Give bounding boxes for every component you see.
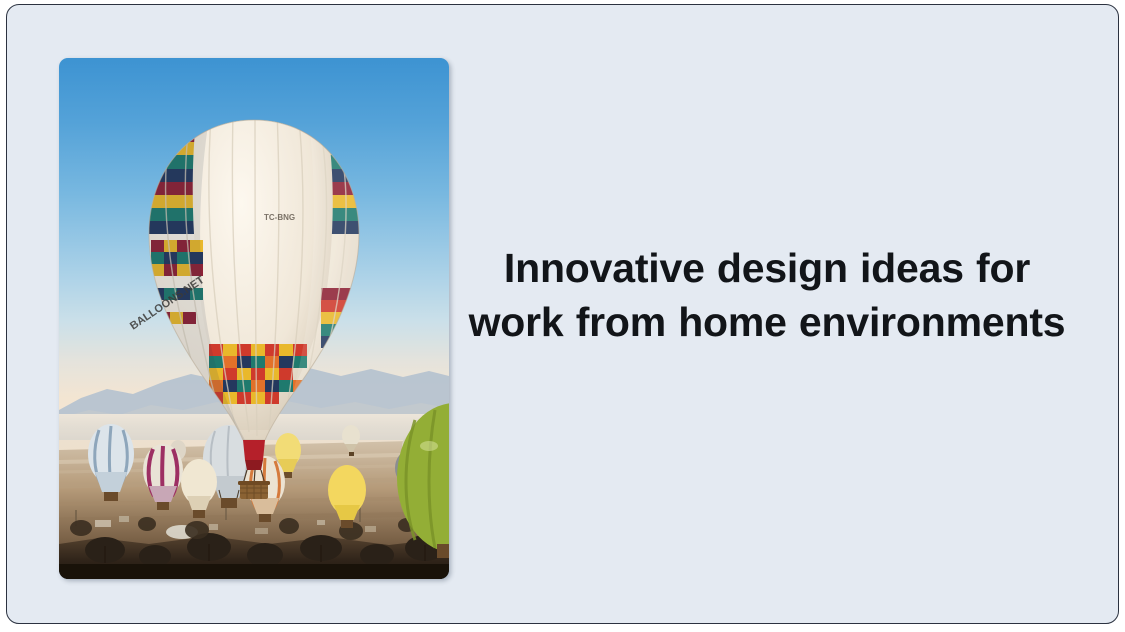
headline-block: Innovative design ideas for work from ho…	[462, 241, 1072, 349]
balloon-skirt	[243, 440, 265, 460]
bottom-shadow	[59, 564, 449, 579]
slide-canvas: TC-BNG BALLOONS.NET	[6, 4, 1119, 624]
balloon-scene-illustration: TC-BNG BALLOONS.NET	[59, 58, 449, 579]
slide-content: TC-BNG BALLOONS.NET	[7, 5, 1118, 623]
registration-mark: TC-BNG	[264, 213, 295, 222]
hot-air-balloon-image: TC-BNG BALLOONS.NET	[59, 58, 449, 579]
page-title: Innovative design ideas for work from ho…	[462, 241, 1072, 349]
